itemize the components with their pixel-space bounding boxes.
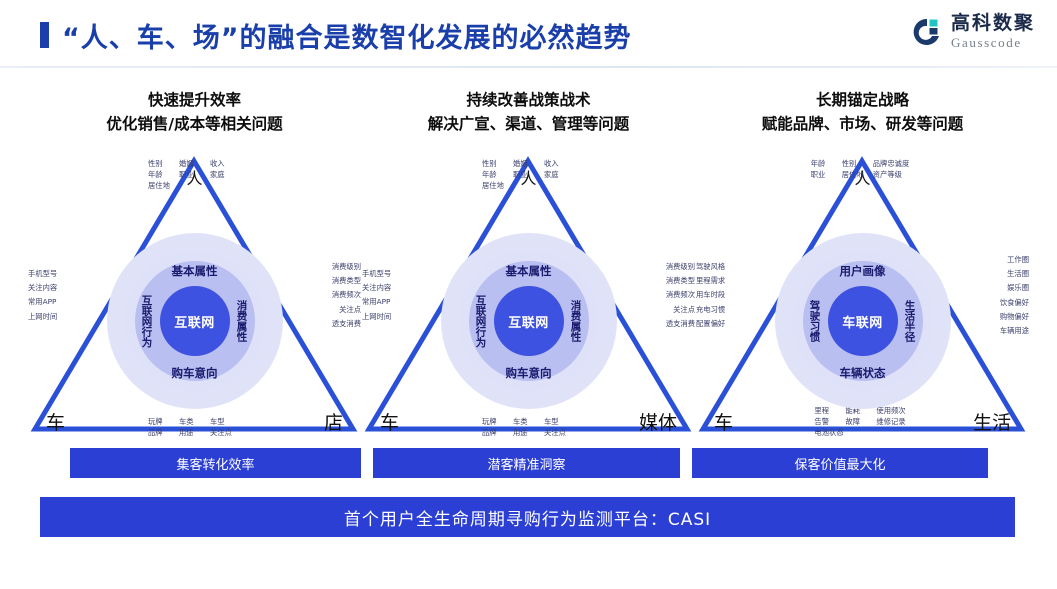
column-2-heading-line2: 解决广宣、渠道、管理等问题 bbox=[362, 112, 695, 136]
column-3-quadrant-left: 驾驶习惯 bbox=[808, 300, 823, 342]
column-1-core-label: 互联网 bbox=[174, 312, 215, 331]
column-2-corner-left: 车 bbox=[380, 408, 399, 435]
outcome-bar-2: 潜客精准洞察 bbox=[373, 448, 680, 478]
logo-name-en: Gausscode bbox=[951, 36, 1035, 49]
column-2-heading: 持续改善战策战术 解决广宣、渠道、管理等问题 bbox=[362, 88, 695, 136]
title-accent-bar bbox=[40, 22, 49, 48]
column-3-core-label: 车联网 bbox=[842, 312, 883, 331]
header-divider bbox=[0, 66, 1057, 68]
column-1-corner-left: 车 bbox=[46, 408, 65, 435]
column-2-heading-line1: 持续改善战策战术 bbox=[362, 88, 695, 112]
column-3-attrs-bottom: 里程能耗使用频次 告警故障维修记录 电池状态 bbox=[814, 406, 910, 439]
column-2-core-label: 互联网 bbox=[508, 312, 549, 331]
column-1-attrs-top: 性别婚姻收入 年龄职业家庭 居住地 bbox=[148, 159, 241, 192]
column-1: 快速提升效率 优化销售/成本等相关问题 人 车 店 性别婚姻收入 年龄职业家庭 … bbox=[28, 88, 361, 468]
column-3-quadrant-top: 用户画像 bbox=[775, 263, 951, 279]
column-2-quadrant-bottom: 购车意向 bbox=[441, 365, 617, 381]
platform-banner: 首个用户全生命周期寻购行为监测平台：CASI bbox=[40, 497, 1015, 537]
column-1-quadrant-left: 互联网行为 bbox=[140, 295, 155, 348]
column-3-triangle: 人 车 生活 年龄性别品牌忠诚度 职业居住地资产等级 里程能耗使用频次 告警故障… bbox=[696, 151, 1029, 441]
outcome-bar-1: 集客转化效率 bbox=[70, 448, 361, 478]
column-2-core-circle: 互联网 bbox=[494, 286, 564, 356]
page-header: “人、车、场”的融合是数智化发展的必然趋势 高科数聚 Gausscode bbox=[0, 0, 1057, 66]
brand-logo: 高科数聚 Gausscode bbox=[910, 14, 1035, 49]
column-2-quadrant-top: 基本属性 bbox=[441, 263, 617, 279]
column-1-heading: 快速提升效率 优化销售/成本等相关问题 bbox=[28, 88, 361, 136]
triangle-columns: 快速提升效率 优化销售/成本等相关问题 人 车 店 性别婚姻收入 年龄职业家庭 … bbox=[0, 88, 1057, 468]
column-1-quadrant-bottom: 购车意向 bbox=[107, 365, 283, 381]
column-3-attrs-right: 工作圈生活圈娱乐圈 饮食偏好购物偏好车辆用途 bbox=[1000, 252, 1029, 340]
column-3-quadrant-right: 生活半径 bbox=[903, 300, 918, 342]
logo-name-cn: 高科数聚 bbox=[951, 14, 1035, 33]
column-1-attrs-bottom: 玩牌车类车型 品牌用途关注点 bbox=[148, 417, 241, 439]
column-2-quadrant-left: 互联网行为 bbox=[474, 295, 489, 348]
column-1-attrs-right: 消费级别消费类型消费频次 关注点透支消费 bbox=[332, 259, 361, 333]
column-1-corner-right: 店 bbox=[324, 408, 343, 435]
column-3-corner-left: 车 bbox=[714, 408, 733, 435]
column-2-quadrant-right: 消费属性 bbox=[569, 300, 584, 342]
column-1-heading-line2: 优化销售/成本等相关问题 bbox=[28, 112, 361, 136]
column-3-quadrant-bottom: 车辆状态 bbox=[775, 365, 951, 381]
gausscode-logo-icon bbox=[910, 15, 944, 49]
column-1-circle-diagram: 互联网 基本属性 购车意向 互联网行为 消费属性 互联网 bbox=[107, 233, 283, 409]
column-3-core-circle: 车联网 bbox=[828, 286, 898, 356]
column-3-corner-right: 生活 bbox=[973, 408, 1011, 435]
column-2-attrs-right: 消费级别消费类型消费频次 关注点透支消费 bbox=[666, 259, 695, 333]
column-2-triangle: 人 车 媒体 性别婚姻收入 年龄职业家庭 居住地 玩牌车类车型 品牌用途关注点 … bbox=[362, 151, 695, 441]
column-3-circle-diagram: 车联网 用户画像 车辆状态 驾驶习惯 生活半径 车联网 bbox=[775, 233, 951, 409]
column-2-corner-right: 媒体 bbox=[639, 408, 677, 435]
column-1-triangle: 人 车 店 性别婚姻收入 年龄职业家庭 居住地 玩牌车类车型 品牌用途关注点 手… bbox=[28, 151, 361, 441]
column-1-quadrant-top: 基本属性 bbox=[107, 263, 283, 279]
page-title: “人、车、场”的融合是数智化发展的必然趋势 bbox=[62, 16, 632, 55]
column-1-core-circle: 互联网 bbox=[160, 286, 230, 356]
column-3-attrs-top: 年龄性别品牌忠诚度 职业居住地资产等级 bbox=[811, 159, 914, 181]
column-2-attrs-left: 手机型号关注内容 常用APP上网时间 bbox=[362, 266, 391, 326]
outcome-bars: 集客转化效率 潜客精准洞察 保客价值最大化 bbox=[0, 448, 1057, 478]
column-3-heading: 长期锚定战略 赋能品牌、市场、研发等问题 bbox=[696, 88, 1029, 136]
column-3: 长期锚定战略 赋能品牌、市场、研发等问题 人 车 生活 年龄性别品牌忠诚度 职业… bbox=[696, 88, 1029, 468]
column-1-attrs-left: 手机型号关注内容 常用APP上网时间 bbox=[28, 266, 57, 326]
column-3-heading-line1: 长期锚定战略 bbox=[696, 88, 1029, 112]
column-2: 持续改善战策战术 解决广宣、渠道、管理等问题 人 车 媒体 性别婚姻收入 年龄职… bbox=[362, 88, 695, 468]
column-3-attrs-left: 驾驶风格里程需求用车时段 充电习惯配置偏好 bbox=[696, 259, 725, 333]
logo-wordmark: 高科数聚 Gausscode bbox=[951, 14, 1035, 49]
column-1-heading-line1: 快速提升效率 bbox=[28, 88, 361, 112]
column-3-heading-line2: 赋能品牌、市场、研发等问题 bbox=[696, 112, 1029, 136]
outcome-bar-3: 保客价值最大化 bbox=[692, 448, 988, 478]
column-2-circle-diagram: 互联网 基本属性 购车意向 互联网行为 消费属性 互联网 bbox=[441, 233, 617, 409]
column-2-attrs-top: 性别婚姻收入 年龄职业家庭 居住地 bbox=[482, 159, 575, 192]
column-2-attrs-bottom: 玩牌车类车型 品牌用途关注点 bbox=[482, 417, 575, 439]
column-1-quadrant-right: 消费属性 bbox=[235, 300, 250, 342]
